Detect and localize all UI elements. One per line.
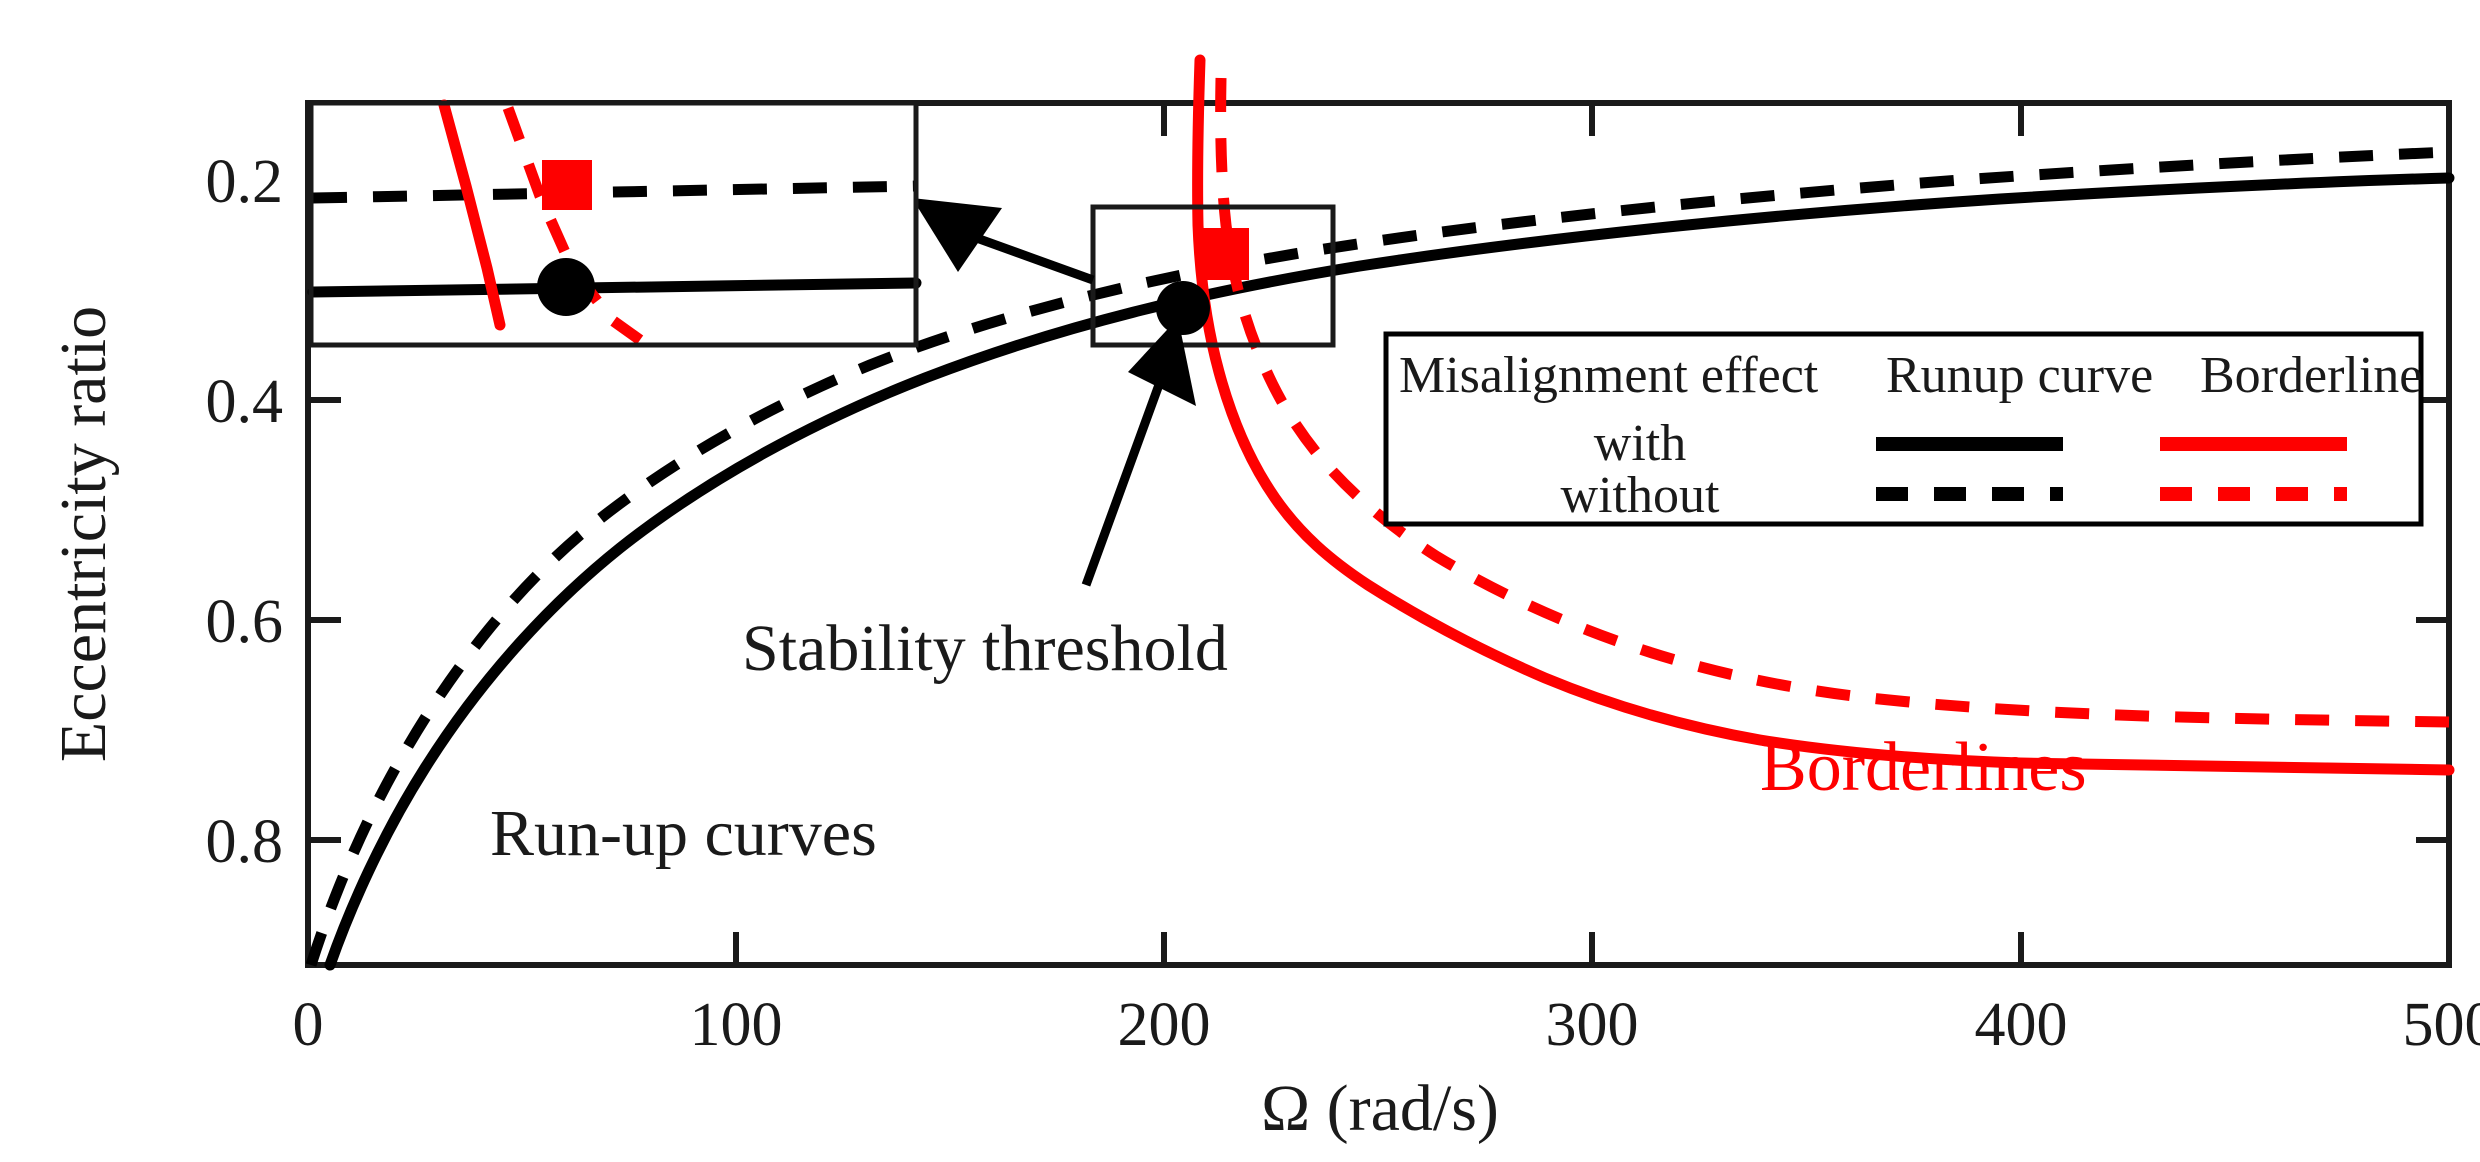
stability-threshold-marker-without	[1197, 228, 1249, 280]
inset-frame	[311, 103, 916, 345]
legend-header-runup: Runup curve	[1886, 347, 2153, 404]
y-tick-label-0.6: 0.6	[206, 588, 284, 656]
magnified-inset	[311, 103, 916, 345]
x-tick-label-500: 500	[2403, 991, 2480, 1059]
run-up-curves-annotation: Run-up curves	[490, 797, 877, 870]
inset-marker-with	[537, 258, 595, 316]
legend-header-misalignment: Misalignment effect	[1399, 347, 1819, 404]
x-tick-labels: 0 100 200 300 400 500	[293, 991, 2480, 1059]
y-tick-label-0.4: 0.4	[206, 368, 284, 436]
legend: Misalignment effect Runup curve Borderli…	[1386, 334, 2422, 524]
legend-row-label-with: with	[1594, 415, 1686, 472]
y-tick-label-0.2: 0.2	[206, 148, 284, 216]
y-tick-label-0.8: 0.8	[206, 808, 284, 876]
stability-threshold-annotation: Stability threshold	[742, 612, 1228, 685]
x-tick-label-100: 100	[690, 991, 783, 1059]
stability-threshold-leader	[1086, 318, 1196, 585]
magnifier-arrow-head	[912, 198, 1002, 272]
y-tick-labels: 0.2 0.4 0.6 0.8	[206, 148, 284, 876]
x-axis-title: Ω (rad/s)	[1261, 1072, 1499, 1145]
stability-threshold-marker-with	[1156, 281, 1210, 335]
inset-marker-without	[542, 160, 592, 210]
stability-threshold-leader-line	[1086, 360, 1168, 585]
y-axis-title: Eccentricity ratio	[47, 306, 120, 762]
figure-container: 0 100 200 300 400 500 0.2 0.4 0.6 0.8 Ω …	[0, 0, 2480, 1162]
borderlines-annotation: Borderlines	[1760, 729, 2087, 806]
eccentricity-ratio-chart: 0 100 200 300 400 500 0.2 0.4 0.6 0.8 Ω …	[0, 0, 2480, 1162]
x-tick-label-200: 200	[1118, 991, 1211, 1059]
x-tick-label-400: 400	[1975, 991, 2068, 1059]
x-tick-label-300: 300	[1546, 991, 1639, 1059]
magnifier-leader	[912, 198, 1093, 280]
x-tick-label-0: 0	[293, 991, 324, 1059]
legend-row-label-without: without	[1561, 467, 1720, 524]
legend-header-borderline: Borderline	[2200, 347, 2422, 404]
